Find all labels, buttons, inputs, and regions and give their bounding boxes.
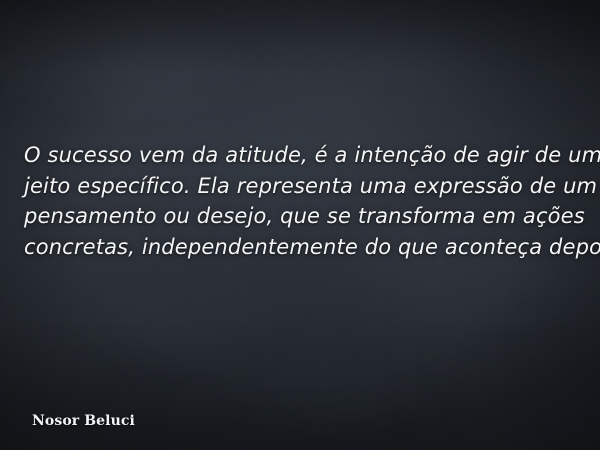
quote-text-block: O sucesso vem da atitude, é a intenção d…	[0, 140, 600, 262]
quote-card: O sucesso vem da atitude, é a intenção d…	[0, 0, 600, 450]
quote-line-1: O sucesso vem da atitude, é a intenção d…	[24, 140, 576, 171]
quote-line-4: concretas, independentemente do que acon…	[24, 232, 576, 263]
quote-line-2: jeito específico. Ela representa uma exp…	[24, 171, 576, 202]
author-name: Nosor Beluci	[32, 413, 135, 429]
quote-line-3: pensamento ou desejo, que se transforma …	[24, 201, 576, 232]
